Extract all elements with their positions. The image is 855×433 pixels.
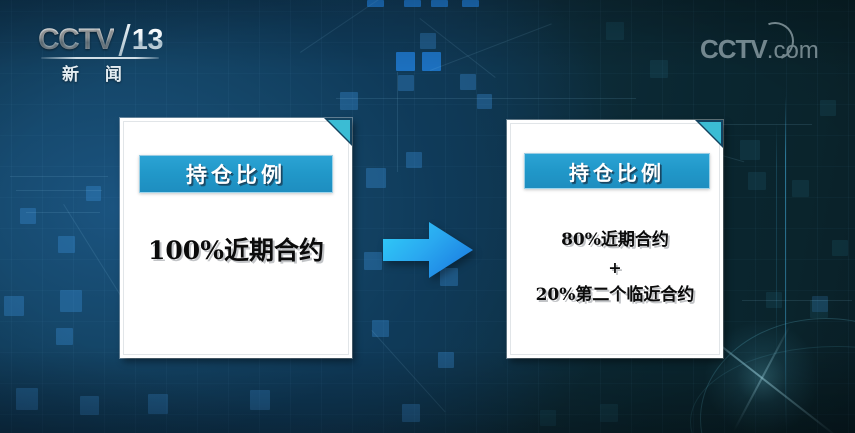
card-after: 持仓比例 80%近期合约 + 20%第二个临近合约 (507, 120, 723, 358)
card-line-main: 100%近期合约 (120, 231, 352, 267)
cctv13-logo: CCTV 13 新 闻 (38, 24, 163, 78)
card-banner-title: 持仓比例 (186, 159, 286, 189)
logo-slash-divider (116, 23, 131, 57)
card-banner-title: 持仓比例 (569, 157, 665, 186)
corner-fold-icon (324, 118, 352, 146)
broadcast-screen: CCTV 13 新 闻 CCTV.com 持仓比例 100%近期合约 (0, 0, 855, 433)
card-banner: 持仓比例 (139, 155, 333, 193)
channel-number: 13 (132, 26, 163, 55)
cctv-wordmark: CCTV (38, 25, 114, 55)
card-line-main: 80%近期合约 (507, 226, 723, 255)
channel-subtitle: 新 闻 (62, 60, 163, 85)
card-banner: 持仓比例 (524, 153, 710, 189)
card-line-secondary: 20%第二个临近合约 (507, 281, 723, 310)
card-body: 100%近期合约 (120, 231, 352, 267)
card-line-plus: + (507, 255, 723, 281)
right-arrow-icon (383, 222, 473, 278)
cctv-dotcom-watermark: CCTV.com (700, 34, 819, 65)
card-body: 80%近期合约 + 20%第二个临近合约 (507, 226, 723, 310)
card-before: 持仓比例 100%近期合约 (120, 118, 352, 358)
logo-underline (41, 57, 159, 59)
corner-fold-icon (695, 120, 723, 148)
